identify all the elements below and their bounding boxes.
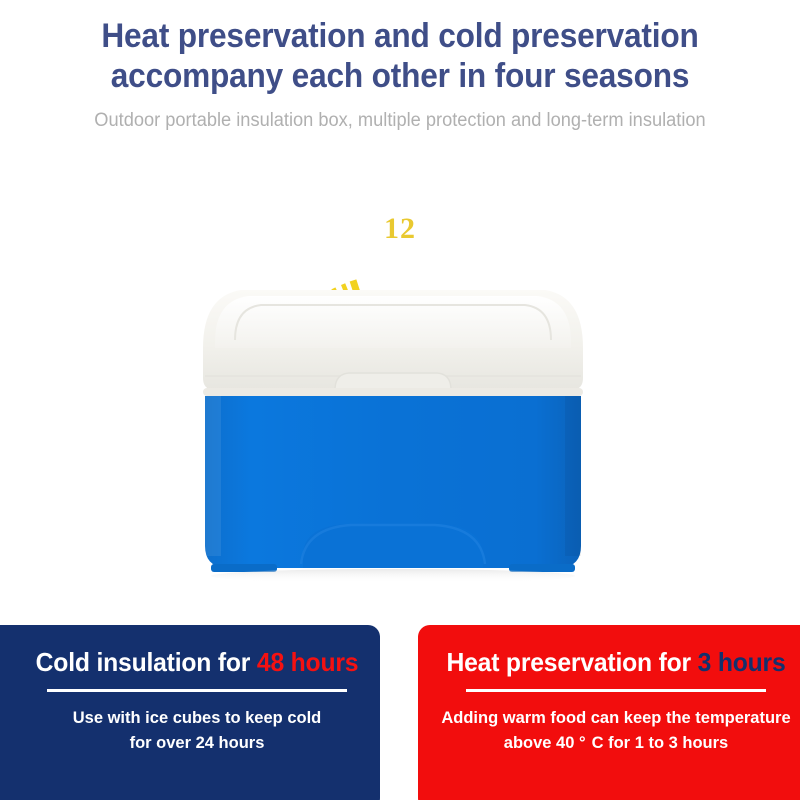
page-subtitle: Outdoor portable insulation box, multipl…	[16, 96, 784, 132]
panel-heat-body: Adding warm food can keep the temperatur…	[418, 692, 800, 756]
degree-symbol: °	[579, 734, 592, 752]
panel-cold-title-prefix: Cold insulation for	[36, 647, 257, 677]
panel-heat-title-accent: 3 hours	[698, 647, 786, 677]
cooler-ground-shadow	[211, 569, 575, 583]
headline-line-2: accompany each other in four seasons	[28, 56, 772, 96]
panel-heat-title: Heat preservation for 3 hours	[428, 647, 800, 677]
header: Heat preservation and cold preservation …	[0, 0, 800, 132]
clock-dial-label: 12	[0, 212, 800, 246]
page-title: Heat preservation and cold preservation …	[28, 0, 772, 96]
panel-cold-title: Cold insulation for 48 hours	[10, 647, 384, 677]
cooler-body-left-shade	[205, 396, 221, 556]
panel-cold-body-line-2: for over 24 hours	[0, 731, 394, 756]
panel-cold-body-line-1: Use with ice cubes to keep cold	[0, 706, 394, 731]
cooler-lid-handle-recess	[335, 373, 451, 390]
product-banner: Heat preservation and cold preservation …	[0, 0, 800, 800]
panel-heat-preservation: Heat preservation for 3 hours Adding war…	[418, 625, 800, 800]
cooler-lid-top	[215, 296, 571, 348]
cooler-foot-left	[211, 564, 277, 572]
panel-heat-body-line-2: above 40 °C for 1 to 3 hours	[418, 731, 800, 756]
cooler-lid-seam	[203, 388, 583, 396]
headline-line-1: Heat preservation and cold preservation	[28, 16, 772, 56]
insulated-cooler-box	[183, 278, 603, 598]
panel-heat-body-temp: above 40	[504, 734, 579, 752]
panel-heat-body-unit: C for 1 to 3 hours	[592, 734, 729, 752]
panel-heat-title-prefix: Heat preservation for	[446, 647, 697, 677]
panel-cold-insulation: Cold insulation for 48 hours Use with ic…	[0, 625, 380, 800]
panel-heat-body-line-1: Adding warm food can keep the temperatur…	[418, 706, 800, 731]
cooler-foot-right	[509, 564, 575, 572]
panel-cold-body: Use with ice cubes to keep cold for over…	[0, 692, 394, 756]
cooler-body-right-shade	[565, 396, 581, 556]
panel-cold-title-accent: 48 hours	[257, 647, 358, 677]
cooler-body-bottom-recess	[303, 524, 483, 568]
